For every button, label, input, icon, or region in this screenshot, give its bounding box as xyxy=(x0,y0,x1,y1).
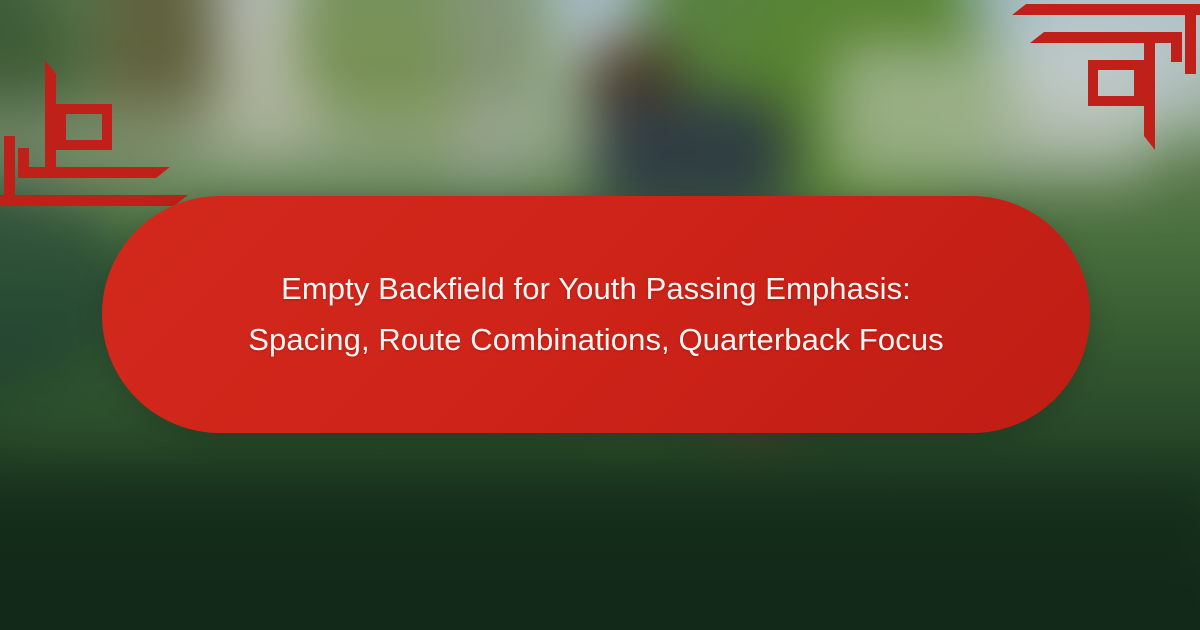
ornament-square-side xyxy=(56,104,66,150)
corner-ornament-bottom-left-icon xyxy=(0,0,210,210)
ornament-square-side xyxy=(1088,60,1098,106)
ornament-line xyxy=(1144,32,1155,150)
corner-ornament-top-right-icon xyxy=(990,0,1200,150)
ornament-line xyxy=(4,136,15,206)
ornament-line xyxy=(45,60,56,178)
ornament-line xyxy=(1171,32,1182,62)
ornament-line xyxy=(1012,4,1200,15)
ornament-square-side xyxy=(102,104,112,150)
ornament-line xyxy=(18,148,29,178)
ornament-line xyxy=(1030,32,1182,43)
page-title: Empty Backfield for Youth Passing Emphas… xyxy=(188,264,1004,364)
page-title-line-1: Empty Backfield for Youth Passing Emphas… xyxy=(248,264,944,314)
page-title-line-2: Spacing, Route Combinations, Quarterback… xyxy=(248,315,944,365)
ornament-square-side xyxy=(1134,60,1144,106)
ornament-line xyxy=(0,195,188,206)
ornament-line xyxy=(18,167,170,178)
title-card: Empty Backfield for Youth Passing Emphas… xyxy=(102,196,1090,433)
ornament-line xyxy=(1185,4,1196,74)
share-banner: Empty Backfield for Youth Passing Emphas… xyxy=(0,0,1200,630)
